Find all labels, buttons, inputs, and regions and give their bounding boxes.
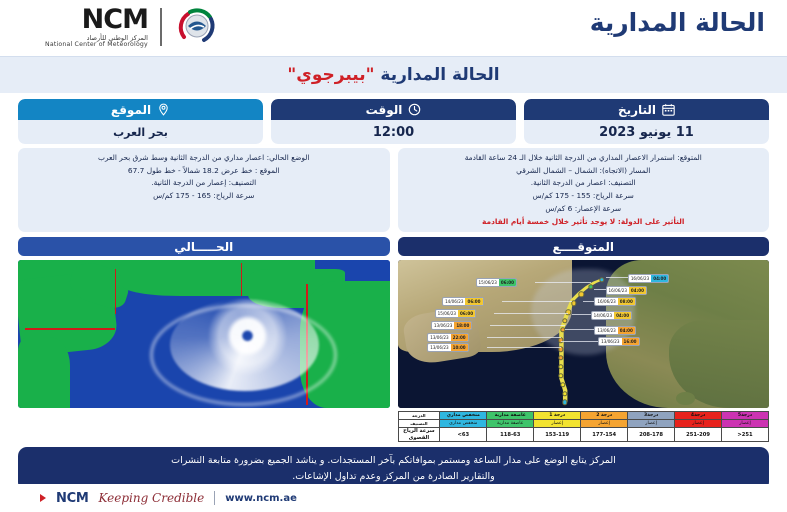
location-card-value: بحر العرب [18,120,263,144]
location-pin-icon [157,103,170,116]
legend-wind-row: 251<251-209208-178177-154153-119118-6363… [398,428,769,442]
forecast-panel-title: المتوقــــع [398,237,770,256]
legend-grade-cell: درجة4 [675,412,722,420]
track-label: 13/06/2322:00 [427,333,468,342]
legend-grade-cell: منخفض مداري [440,412,487,420]
time-card: الوقت 12:00 [271,99,516,144]
legend-grade-cell: عاصفة مدارية [487,412,534,420]
track-label-time: 06:00 [465,298,482,305]
date-card-label: التاريخ [618,103,656,117]
storm-subtitle-band: الحالة المدارية "بيبرجوي" [0,56,787,93]
track-label-date: 15/06/23 [477,279,499,286]
track-label-date: 14/06/23 [592,312,614,319]
current-detail-panel: الوضع الحالي: اعصار مداري من الدرجة الثا… [18,148,390,232]
track-label-date: 14/06/23 [443,298,465,305]
bottom-slogan: Keeping Credible [98,491,204,505]
current-panel-title: الحـــــالي [18,237,390,256]
legend-grade-cell: درجة3 [628,412,675,420]
legend-class-cell: منخفض مداري [440,420,487,428]
logo-english-name: National Center of Meteorology [45,42,148,48]
track-label-date: 16/06/23 [595,298,617,305]
logo-divider [160,8,162,46]
detail-panels-row: المتوقع: استمرار الاعصار المداري من الدر… [0,144,787,232]
track-label: 15/06/2306:00 [435,309,476,318]
current-line: التصنيف: إعصار من الدرجة الثانية. [26,177,382,190]
forecast-line: المسار (الاتجاه): الشمال – الشمال الشرقي [406,165,762,178]
calendar-icon [662,103,675,116]
legend-wind-cell: 118-63 [487,428,534,442]
satellite-border-line [25,328,114,330]
tropical-bulletin-page: NCM المركز الوطني للأرصاد National Cente… [0,0,787,512]
track-label-date: 13/06/23 [428,334,450,341]
legend-grade-row: درجة5درجة4درجة3درجة 2درجة 1عاصفة مداريةم… [398,412,769,420]
track-label-time: 22:00 [451,334,468,341]
track-label-time: 18:00 [454,322,471,329]
storm-subtitle: الحالة المدارية "بيبرجوي" [287,65,499,85]
track-label-leader [490,325,564,326]
track-label: 16/06/2308:00 [594,297,635,306]
storm-name: "بيبرجوي" [287,65,374,85]
current-line: سرعة الرياح: 165 - 175 كم/س [26,190,382,203]
play-triangle-icon [40,494,46,502]
track-label-leader [606,277,628,278]
subtitle-prefix: الحالة المدارية [380,65,499,85]
track-label: 13/06/2318:00 [431,321,472,330]
legend-class-cell: إعصار [722,420,769,428]
track-label-time: 06:00 [458,310,475,317]
forecast-line: سرعة الرياح: 155 - 175 كم/س [406,190,762,203]
legend-grade-cell: درجة 2 [581,412,628,420]
track-label-date: 13/06/23 [432,322,454,329]
legend-row-label: سرعة الرياح القصوى [398,428,440,442]
track-label-date: 13/06/23 [428,344,450,351]
page-title: الحالة المدارية [590,8,765,37]
cyclone-outer-band [150,304,337,405]
track-label-leader [583,301,594,302]
location-card-label: الموقع [111,103,151,117]
track-label-time: 06:00 [499,279,516,286]
track-label-leader [594,289,605,290]
forecast-line: المتوقع: استمرار الاعصار المداري من الدر… [406,152,762,165]
bottom-ncm-text: NCM [56,491,88,506]
info-cards-row: التاريخ 11 يونيو 2023 الوقت 12:00 الموقع… [0,93,787,144]
time-card-label: الوقت [366,103,403,117]
track-label-time: 04:00 [629,287,646,294]
satellite-border-line [241,263,243,296]
track-label-time: 04:00 [618,327,635,334]
track-label-time: 16:00 [622,338,639,345]
legend-class-cell: إعصار [581,420,628,428]
bottom-separator [214,491,215,505]
location-card: الموقع بحر العرب [18,99,263,144]
forecast-country-impact: التأثير على الدولة: لا يوجد تأثير خلال خ… [406,216,762,229]
bottom-website-url[interactable]: www.ncm.ae [225,493,297,504]
legend-row-label: التصنيف [398,420,440,428]
forecast-detail-panel: المتوقع: استمرار الاعصار المداري من الدر… [398,148,770,232]
satellite-border-line [115,269,117,313]
track-label-time: 04:00 [614,312,631,319]
date-card: التاريخ 11 يونيو 2023 [524,99,769,144]
track-label-leader [502,301,573,302]
track-label-leader [494,313,568,314]
footer-message-line2: والتقارير الصادرة من المركز وعدم تداول ا… [32,469,755,485]
track-label: 13/06/2310:00 [427,343,468,352]
ncm-logo: NCM المركز الوطني للأرصاد National Cente… [45,4,220,50]
track-label: 16/06/2304:00 [628,274,669,283]
track-label: 14/06/2306:00 [442,297,483,306]
track-label: 16/06/2304:00 [606,286,647,295]
track-label-leader [572,314,591,315]
legend-row-label: الدرجة [398,412,440,420]
track-label-date: 16/06/23 [629,275,651,282]
legend-class-cell: إعصار [628,420,675,428]
legend-wind-cell: 63> [440,428,487,442]
track-label-leader [487,337,561,338]
location-card-header: الموقع [18,99,263,120]
legend-class-cell: إعصار [534,420,581,428]
date-card-value: 11 يونيو 2023 [524,120,769,144]
panel-titles-row: المتوقــــع الحـــــالي [0,232,787,256]
legend-wind-cell: 251-209 [675,428,722,442]
current-line: الوضع الحالي: اعصار مداري من الدرجة الثا… [26,152,382,165]
forecast-map-column: 15/06/2306:0014/06/2306:0015/06/2306:001… [398,260,770,442]
track-label-date: 13/06/23 [595,327,617,334]
cyclone-eye-feature [170,299,319,391]
legend-wind-cell: 208-178 [628,428,675,442]
track-label: 15/06/2306:00 [476,278,517,287]
forecast-line: سرعة الإعصار: 6 كم/س [406,203,762,216]
legend-grade-cell: درجة5 [722,412,769,420]
track-label-date: 15/06/23 [436,310,458,317]
track-label: 13/06/2304:00 [594,326,635,335]
track-label-leader [565,329,595,330]
forecast-line: التصنيف: اعصار من الدرجة الثانية. [406,177,762,190]
legend-wind-cell: 251< [722,428,769,442]
track-label-date: 13/06/23 [599,338,621,345]
time-card-header: الوقت [271,99,516,120]
legend-grade-cell: درجة 1 [534,412,581,420]
legend-class-cell: عاصفة مدارية [487,420,534,428]
track-label-time: 04:00 [651,275,668,282]
date-card-header: التاريخ [524,99,769,120]
satellite-saudi [18,337,70,408]
track-label: 13/06/2316:00 [598,337,639,346]
category-legend-table: درجة5درجة4درجة3درجة 2درجة 1عاصفة مداريةم… [398,411,770,442]
logo-wordmark: NCM المركز الوطني للأرصاد National Cente… [45,6,148,48]
current-map-column [18,260,390,442]
ncm-globe-icon [174,4,220,50]
satellite-image[interactable] [18,260,390,408]
legend-classification-row: إعصارإعصارإعصارإعصارإعصارعاصفة مداريةمنخ… [398,420,769,428]
legend-class-cell: إعصار [675,420,722,428]
page-header: NCM المركز الوطني للأرصاد National Cente… [0,0,787,56]
time-card-value: 12:00 [271,120,516,144]
track-label-leader [561,341,598,342]
maps-row: 15/06/2306:0014/06/2306:0015/06/2306:001… [0,256,787,442]
bottom-bar: NCM Keeping Credible www.ncm.ae [0,484,787,512]
forecast-track-map[interactable]: 15/06/2306:0014/06/2306:0015/06/2306:001… [398,260,770,408]
track-label-leader [487,347,561,348]
legend-wind-cell: 153-119 [534,428,581,442]
track-label: 14/06/2304:00 [591,311,632,320]
track-label-time: 10:00 [451,344,468,351]
track-label-time: 08:00 [618,298,635,305]
legend-wind-cell: 177-154 [581,428,628,442]
footer-message-line1: المركز يتابع الوضع على مدار الساعة ومستم… [32,453,755,469]
track-label-date: 16/06/23 [607,287,629,294]
track-label-leader [535,282,591,283]
logo-ncm-text: NCM [45,6,148,33]
clock-icon [408,103,421,116]
satellite-india-south [338,352,390,408]
current-line: الموقع : خط عرض 18.2 شمالاً - خط طول 67.… [26,165,382,178]
